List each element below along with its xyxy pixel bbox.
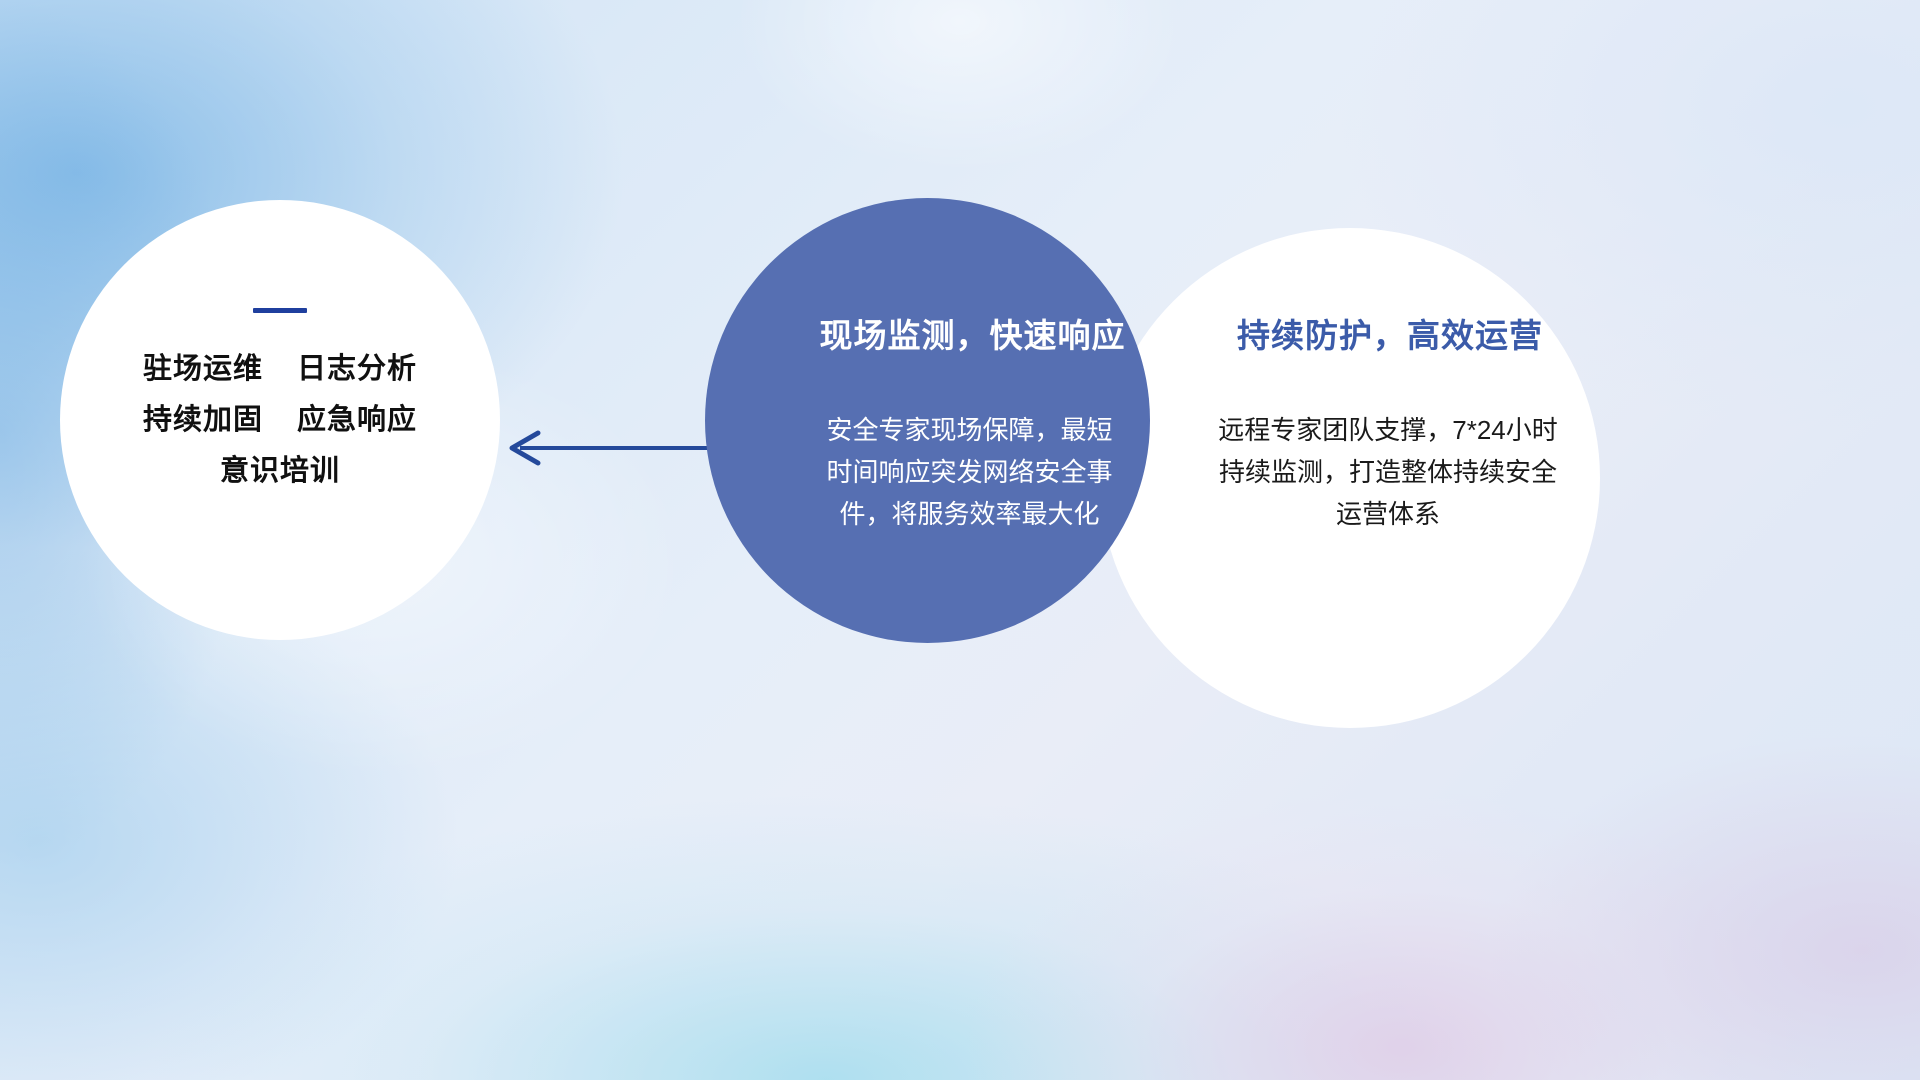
onsite-monitoring-circle-content: 现场监测，快速响应 安全专家现场保障，最短时间响应突发网络安全事件，将服务效率最… <box>705 198 1150 643</box>
continuous-protection-body: 远程专家团队支撑，7*24小时持续监测，打造整体持续安全运营体系 <box>1213 409 1563 535</box>
capability-keyword: 应急响应 <box>297 406 417 435</box>
capability-keyword: 意识培训 <box>220 457 340 486</box>
slide-canvas: 驻场运维 日志分析 持续加固 应急响应 意识培训 现场监测，快速响应 安全专家现… <box>0 0 1920 1080</box>
onsite-monitoring-title: 现场监测，快速响应 <box>820 316 1126 356</box>
capability-keyword: 驻场运维 <box>143 355 263 384</box>
capability-keyword-list: 驻场运维 日志分析 持续加固 应急响应 意识培训 <box>143 355 417 486</box>
onsite-monitoring-body: 安全专家现场保障，最短时间响应突发网络安全事件，将服务效率最大化 <box>820 409 1120 535</box>
continuous-protection-title: 持续防护，高效运营 <box>1237 316 1543 356</box>
capability-row: 持续加固 应急响应 <box>143 406 417 435</box>
capability-row: 驻场运维 日志分析 <box>143 355 417 384</box>
capability-keyword: 持续加固 <box>143 406 263 435</box>
capabilities-circle-content: 驻场运维 日志分析 持续加固 应急响应 意识培训 <box>60 200 500 640</box>
capability-keyword: 日志分析 <box>297 355 417 384</box>
capability-row: 意识培训 <box>220 457 340 486</box>
continuous-protection-circle-content: 持续防护，高效运营 远程专家团队支撑，7*24小时持续监测，打造整体持续安全运营… <box>1100 228 1600 728</box>
accent-divider <box>253 308 307 313</box>
